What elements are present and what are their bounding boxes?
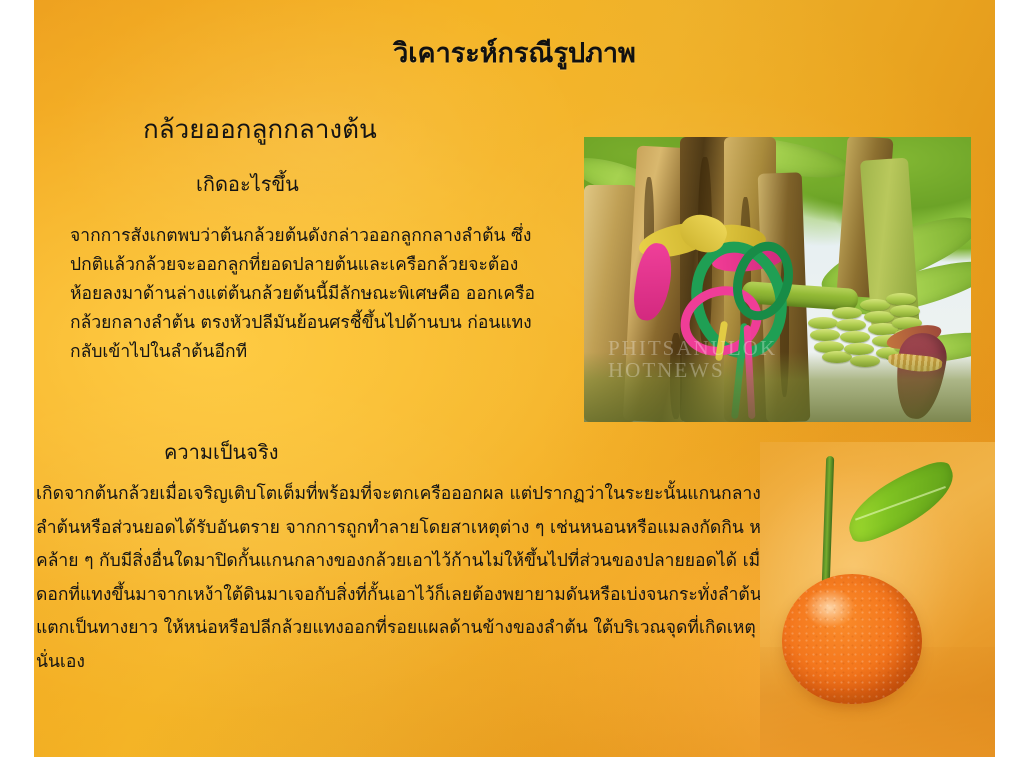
tangerine-fruit (782, 574, 922, 704)
body-paragraph-observation: จากการสังเกตพบว่าต้นกล้วยต้นดังกล่าวออกล… (70, 222, 550, 367)
body-paragraph-explanation: เกิดจากต้นกล้วยเมื่อเจริญเติบโตเต็มที่พร… (36, 478, 796, 679)
photo-ground-layer (584, 352, 971, 422)
tangerine-with-leaf-photo (760, 442, 995, 757)
section-heading-what-happened: เกิดอะไรขึ้น (196, 168, 299, 200)
section-heading-main: กล้วยออกลูกกลางต้น (143, 109, 377, 150)
presentation-slide: วิเคาระห์กรณีรูปภาพ กล้วยออกลูกกลางต้น เ… (0, 0, 1024, 768)
section-heading-the-truth: ความเป็นจริง (164, 436, 278, 468)
orange-reflection (790, 694, 912, 728)
banana-tree-with-ribbons-photo: PHITSANULOK HOTNEWS (584, 137, 971, 422)
page-title: วิเคาระห์กรณีรูปภาพ (34, 31, 995, 74)
slide-canvas: วิเคาระห์กรณีรูปภาพ กล้วยออกลูกกลางต้น เ… (34, 0, 995, 757)
orange-peel-texture (782, 574, 922, 704)
